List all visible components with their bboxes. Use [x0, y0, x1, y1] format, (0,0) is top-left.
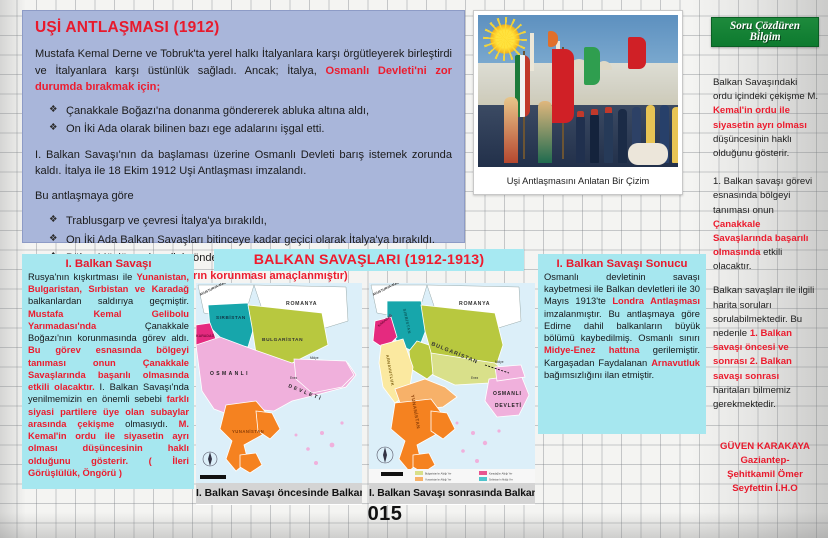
seated-figure [628, 143, 668, 165]
first-balkan-war-body: Rusya'nın kışkırtması ile Yunanistan, Bu… [28, 271, 189, 479]
fez-icon [577, 111, 584, 117]
figure-officer [576, 115, 585, 163]
svg-text:Midye: Midye [310, 356, 319, 360]
figure-officer [618, 109, 627, 163]
svg-text:Karadağ'ın Aldığı Yer: Karadağ'ın Aldığı Yer [489, 473, 512, 476]
first-balkan-war-result-seg-2: imzalanmıştır. Bu antlaşmaya göre Edirne… [544, 309, 700, 343]
first-balkan-war-result-body: Osmanlı devletinin savaşı kaybetmesi ile… [544, 271, 700, 381]
first-balkan-war-result-seg-1: Londra Antlaşması [612, 296, 700, 306]
svg-text:BULGARİSTAN: BULGARİSTAN [262, 336, 303, 343]
badge-line-1: Soru Çözdüren [730, 20, 800, 32]
first-balkan-war-result-seg-6: bağımsızlığını ilan etmiştir. [544, 370, 654, 380]
usi-bullet-item: Çanakkale Boğazı'na donanma göndererek a… [49, 102, 452, 120]
figure-officer [604, 111, 613, 163]
sidebar-note-1-seg-2: düşüncesinin haklı olduğunu gösterir. [713, 134, 792, 159]
sidebar-note-3: Balkan savaşları ile ilgili harita sorul… [713, 284, 819, 412]
first-balkan-war-result-seg-5: Arnavutluk [651, 358, 700, 368]
usi-bullet-item: On İki Ada olarak bilinen bazı ege adala… [49, 120, 452, 138]
svg-text:OSMANLI: OSMANLI [493, 391, 522, 397]
signature-line-3: Seyfettin İ.H.O [709, 482, 821, 496]
sidebar-note-1-seg-0: Balkan Savaşındaki ordu içindeki çekişme… [713, 77, 818, 102]
sun-icon [490, 24, 520, 54]
svg-text:SIRBİSTAN: SIRBİSTAN [216, 314, 246, 320]
ottoman-flag [552, 49, 574, 123]
first-balkan-war-seg-0: Rusya'nın kışkırtması ile [28, 272, 137, 282]
svg-text:Bulgaristan'ın Aldığı Yer: Bulgaristan'ın Aldığı Yer [425, 473, 451, 476]
signature-line-1: Gaziantep- [709, 454, 821, 468]
usi-paragraph-2: I. Balkan Savaşı'nın da başlaması üzerin… [35, 147, 452, 180]
balkan-wars-title: BALKAN SAVAŞLARI (1912-1913) [254, 252, 485, 268]
svg-text:Midye: Midye [495, 360, 504, 364]
sidebar-note-1-seg-1: Kemal'in ordu ile siyasetin ayrı olması [713, 105, 807, 130]
usi-paragraph-1: Mustafa Kemal Derne ve Tobruk'ta yerel h… [35, 46, 452, 96]
map1-caption: I. Balkan Savaşı öncesinde Balkanlar [196, 483, 362, 504]
usi-title: UŞİ ANTLAŞMASI (1912) [35, 19, 452, 37]
fez-icon [605, 107, 612, 113]
figure-woman-right [538, 101, 552, 163]
usi-illustration-card: Uşi Antlaşmasını Anlatan Bir Çizim [473, 10, 683, 195]
badge-text: Soru ÇözdürenBilgim [730, 21, 800, 43]
first-balkan-war-result-seg-3: Midye-Enez hattına [544, 345, 639, 355]
svg-text:ROMANYA: ROMANYA [286, 301, 317, 307]
figure-officer [590, 113, 599, 163]
figure-woman-left [504, 97, 518, 163]
soru-cozduren-bilgim-badge: Soru ÇözdürenBilgim [711, 17, 819, 47]
svg-text:Sırbistan'ın Aldığı Yer: Sırbistan'ın Aldığı Yer [489, 479, 513, 482]
fez-icon [591, 109, 598, 115]
map2-graphic: ROMANYA AVUSTURYA-MACARİSTAN SIRBİSTAN K… [369, 283, 535, 483]
green-flag [584, 47, 600, 85]
usi-bullet-item: Trablusgarp ve çevresi İtalya'ya bırakıl… [49, 212, 452, 230]
usi-treaty-illustration [478, 15, 678, 167]
usi-bullet-list-1: Çanakkale Boğazı'na donanma göndererek a… [49, 102, 452, 139]
sidebar-note-2-seg-0: 1. Balkan savaşı görevi esnasında bölgey… [713, 176, 812, 215]
illustration-caption: Uşi Antlaşmasını Anlatan Bir Çizim [478, 167, 678, 195]
badge-line-2: Bilgim [749, 31, 780, 43]
sidebar-note-3-seg-2: haritaları bilmemiz gerekmektedir. [713, 385, 791, 410]
sidebar-note-2: 1. Balkan savaşı görevi esnasında bölgey… [713, 175, 819, 274]
svg-text:Enez: Enez [290, 376, 298, 380]
sidebar-note-1: Balkan Savaşındaki ordu içindeki çekişme… [713, 76, 819, 161]
first-balkan-war-result-panel: I. Balkan Savaşı Sonucu Osmanlı devletin… [538, 254, 706, 434]
sidebar: Soru ÇözdürenBilgim Balkan Savaşındaki o… [709, 10, 821, 510]
red-flag [628, 37, 646, 69]
first-balkan-war-title: I. Balkan Savaşı [28, 258, 189, 270]
usi-treaty-panel: UŞİ ANTLAŞMASI (1912) Mustafa Kemal Dern… [22, 10, 465, 243]
first-balkan-war-panel: I. Balkan Savaşı Rusya'nın kışkırtması i… [22, 254, 194, 489]
svg-text:Yunanistan'ın Aldığı Yer: Yunanistan'ın Aldığı Yer [425, 479, 451, 482]
map1-graphic: ROMANYA SIRBİSTAN BULGARİSTAN KARADAĞ AV… [196, 283, 362, 483]
map-after-first-balkan-war: ROMANYA AVUSTURYA-MACARİSTAN SIRBİSTAN K… [369, 283, 535, 505]
svg-text:ROMANYA: ROMANYA [459, 301, 490, 307]
usi-paragraph-3: Bu antlaşmaya göre [35, 188, 452, 205]
signature-line-0: GÜVEN KARAKAYA [709, 440, 821, 454]
map-before-first-balkan-war: ROMANYA SIRBİSTAN BULGARİSTAN KARADAĞ AV… [196, 283, 362, 505]
first-balkan-war-result-title: I. Balkan Savaşı Sonucu [544, 258, 700, 270]
svg-text:KARADAĞ: KARADAĞ [196, 333, 215, 338]
first-balkan-war-seg-8: olmasıydı. [114, 419, 178, 429]
map2-caption: I. Balkan Savaşı sonrasında Balkanlar [369, 483, 535, 504]
first-balkan-war-seg-2: balkanlardan saldırıya geçmiştir. [28, 296, 189, 306]
usi-bullet-item: On İki Ada Balkan Savaşları bitinceye ka… [49, 231, 452, 249]
balkan-wars-banner: BALKAN SAVAŞLARI (1912-1913) [214, 249, 524, 271]
minaret-shape [530, 33, 534, 71]
figure-guard [672, 107, 678, 163]
svg-text:Enez: Enez [471, 376, 479, 380]
page-number: 015 [325, 503, 445, 526]
svg-text:DEVLETİ: DEVLETİ [495, 402, 522, 409]
author-signature: GÜVEN KARAKAYAGaziantep-Şehitkamil ÖmerS… [709, 440, 821, 496]
svg-text:YUNANİSTAN: YUNANİSTAN [232, 429, 264, 434]
svg-text:OSMANLI: OSMANLI [210, 371, 250, 377]
signature-line-2: Şehitkamil Ömer [709, 468, 821, 482]
